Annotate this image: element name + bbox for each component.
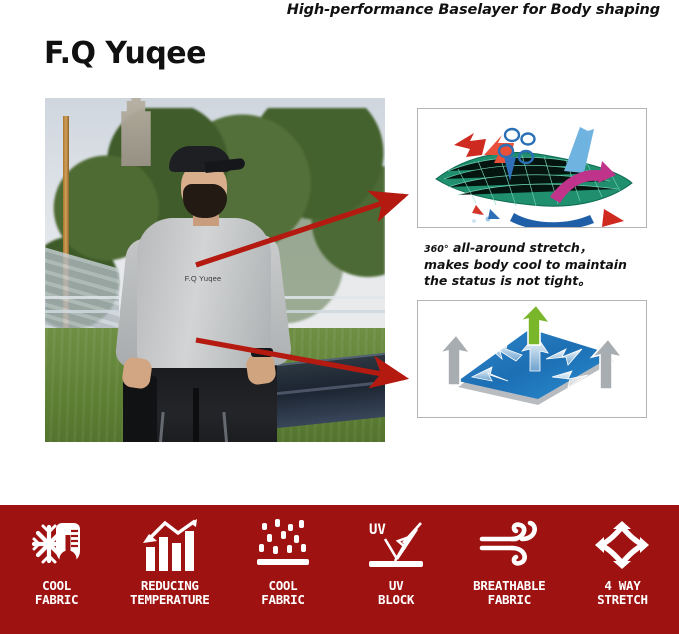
fabric-surface-line bbox=[257, 559, 309, 565]
model-figure: F.Q Yuqee bbox=[97, 126, 297, 442]
chest-logo: F.Q Yuqee bbox=[163, 274, 243, 283]
red-blue-particles bbox=[472, 205, 500, 223]
stretch-degree: 360° bbox=[424, 244, 449, 255]
feature-label: 4 WAY STRETCH bbox=[597, 579, 648, 607]
uv-rays bbox=[385, 523, 421, 561]
four-way-stretch-icon bbox=[591, 514, 653, 576]
brand-name: F.Q Yuqee bbox=[44, 36, 206, 71]
product-photo: F.Q Yuqee bbox=[45, 98, 385, 442]
stretch-arrow-heads bbox=[595, 521, 649, 569]
caption-line-2: makes body cool to maintain bbox=[424, 257, 627, 272]
feature-label: BREATHABLE FABRIC bbox=[473, 579, 545, 607]
feature-label: REDUCING TEMPERATURE bbox=[130, 579, 209, 607]
wrist-watch bbox=[251, 348, 273, 357]
stretch-mesh-diagram bbox=[417, 108, 647, 228]
feature-breathable-fabric: BREATHABLE FABRIC bbox=[453, 514, 566, 607]
feature-label: COOL FABRIC bbox=[261, 579, 304, 607]
model-hand-right bbox=[245, 352, 277, 386]
water-droplets-icon bbox=[254, 514, 312, 576]
leg-separation bbox=[193, 388, 199, 442]
feature-cool-fabric-1: COOL FABRIC bbox=[0, 514, 113, 607]
stretch-diamond bbox=[601, 527, 643, 563]
feature-label: UV BLOCK bbox=[378, 579, 414, 607]
model-beard bbox=[183, 184, 227, 218]
caption-line-3: the status is not tight。 bbox=[424, 273, 591, 288]
feature-label: COOL FABRIC bbox=[35, 579, 78, 607]
bar-chart-down-arrow-icon bbox=[140, 514, 200, 576]
baselayer-shirt bbox=[137, 218, 271, 368]
feature-uv-block: UV UV BLOCK bbox=[340, 514, 453, 607]
fabric-surface-line bbox=[369, 561, 423, 567]
feature-banner: COOL FABRIC bbox=[0, 505, 679, 634]
uv-block-icon: UV bbox=[365, 514, 427, 576]
feature-list: COOL FABRIC bbox=[0, 505, 679, 634]
uv-text: UV bbox=[369, 522, 386, 538]
feature-4-way-stretch: 4 WAY STRETCH bbox=[566, 514, 679, 607]
thermometer-shape bbox=[56, 523, 80, 568]
moisture-spread-diagram bbox=[417, 300, 647, 418]
product-infographic: High-performance Baselayer for Body shap… bbox=[0, 0, 679, 634]
bottom-blue-flow bbox=[510, 209, 624, 227]
snowflake-thermometer-icon bbox=[30, 514, 84, 576]
stretch-caption: 360° all-around stretch， makes body cool… bbox=[424, 240, 664, 290]
air-flow-icon bbox=[478, 514, 540, 576]
caption-line-1: all-around stretch， bbox=[449, 240, 593, 255]
tagline: High-performance Baselayer for Body shap… bbox=[0, 2, 660, 18]
wind-curls bbox=[512, 523, 535, 563]
feature-reducing-temperature: REDUCING TEMPERATURE bbox=[113, 514, 226, 607]
feature-cool-fabric-2: COOL FABRIC bbox=[226, 514, 339, 607]
model-hand-left bbox=[121, 356, 153, 390]
droplet-dots bbox=[259, 519, 306, 554]
